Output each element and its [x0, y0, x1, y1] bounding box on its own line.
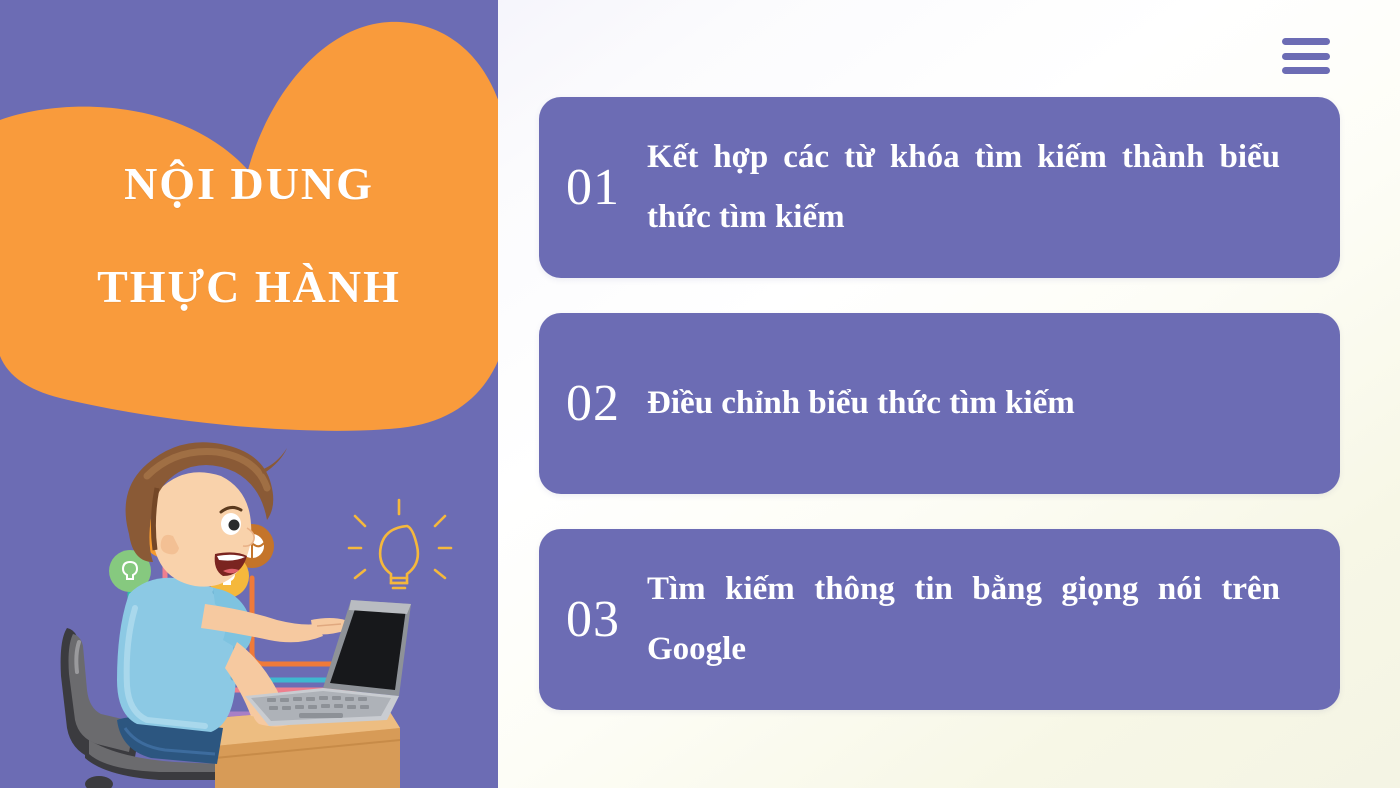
card-label: Kết hợp các từ khóa tìm kiếm thành biểu …	[647, 128, 1340, 247]
hamburger-menu-icon[interactable]	[1282, 38, 1330, 74]
list-item[interactable]: 02 Điều chỉnh biểu thức tìm kiếm	[539, 313, 1340, 494]
card-number: 03	[539, 594, 647, 646]
content-list: 01 Kết hợp các từ khóa tìm kiếm thành bi…	[539, 97, 1340, 710]
hamburger-bar-2	[1282, 53, 1330, 60]
list-item[interactable]: 03 Tìm kiếm thông tin bằng giọng nói trê…	[539, 529, 1340, 710]
list-item[interactable]: 01 Kết hợp các từ khóa tìm kiếm thành bi…	[539, 97, 1340, 278]
boy-at-laptop-illustration: −÷ ÷×	[55, 428, 498, 788]
card-number: 01	[539, 162, 647, 214]
hamburger-bar-1	[1282, 38, 1330, 45]
card-label: Tìm kiếm thông tin bằng giọng nói trên G…	[647, 560, 1340, 679]
card-number: 02	[539, 378, 647, 430]
left-panel: NỘI DUNG THỰC HÀNH	[0, 0, 498, 788]
slide-root: NỘI DUNG THỰC HÀNH	[0, 0, 1400, 788]
card-label: Điều chỉnh biểu thức tìm kiếm	[647, 374, 1340, 433]
hamburger-bar-3	[1282, 67, 1330, 74]
lightbulb-doodle	[349, 500, 451, 588]
